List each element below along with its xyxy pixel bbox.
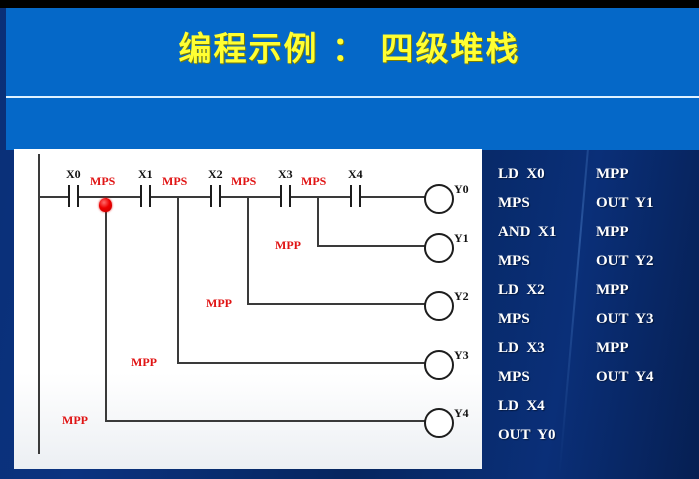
coil-label-y3: Y3 bbox=[454, 348, 469, 363]
instruction-line: MPP bbox=[596, 218, 691, 247]
coil-y1 bbox=[424, 233, 454, 263]
instruction-line: OUT Y4 bbox=[596, 363, 691, 392]
stack-label-mpp-1: MPP bbox=[275, 238, 301, 253]
coil-y3 bbox=[424, 350, 454, 380]
stack-label-mps-4: MPS bbox=[301, 174, 326, 189]
contact-x0 bbox=[68, 185, 79, 207]
coil-y0 bbox=[424, 184, 454, 214]
rung-wire-y3 bbox=[177, 362, 425, 364]
contact-label-x0: X0 bbox=[66, 167, 81, 182]
coil-label-y4: Y4 bbox=[454, 406, 469, 421]
rung-wire-y1 bbox=[317, 245, 425, 247]
stack-label-mps-3: MPS bbox=[231, 174, 256, 189]
instruction-line: MPS bbox=[498, 189, 593, 218]
contact-x3 bbox=[280, 185, 291, 207]
instruction-line: OUT Y2 bbox=[596, 247, 691, 276]
rung-wire-main bbox=[38, 196, 68, 198]
rung-wire-main bbox=[291, 196, 350, 198]
coil-y4 bbox=[424, 408, 454, 438]
branch-vertical-1 bbox=[105, 196, 107, 422]
instruction-line: MPP bbox=[596, 334, 691, 363]
stack-label-mps-2: MPS bbox=[162, 174, 187, 189]
instruction-line: LD X3 bbox=[498, 334, 593, 363]
stack-label-mpp-3: MPP bbox=[131, 355, 157, 370]
instruction-line: MPS bbox=[498, 363, 593, 392]
instruction-line: MPS bbox=[498, 305, 593, 334]
stack-label-mpp-4: MPP bbox=[62, 413, 88, 428]
header-divider bbox=[6, 96, 699, 98]
instruction-line: LD X0 bbox=[498, 160, 593, 189]
instruction-line: OUT Y3 bbox=[596, 305, 691, 334]
instruction-line: MPS bbox=[498, 247, 593, 276]
contact-x1 bbox=[140, 185, 151, 207]
instruction-line: OUT Y1 bbox=[596, 189, 691, 218]
instruction-line: OUT Y0 bbox=[498, 421, 593, 450]
instruction-line: AND X1 bbox=[498, 218, 593, 247]
contact-label-x4: X4 bbox=[348, 167, 363, 182]
rung-wire-main bbox=[361, 196, 425, 198]
contact-x4 bbox=[350, 185, 361, 207]
instruction-list-left-column: LD X0 MPS AND X1 MPS LD X2 MPS LD X3 MPS… bbox=[498, 160, 593, 450]
page-title: 编程示例 ： 四级堆栈 bbox=[0, 22, 699, 70]
coil-label-y2: Y2 bbox=[454, 289, 469, 304]
branch-vertical-2 bbox=[177, 196, 179, 363]
instruction-line: LD X4 bbox=[498, 392, 593, 421]
contact-x2 bbox=[210, 185, 221, 207]
contact-label-x3: X3 bbox=[278, 167, 293, 182]
rung-wire-y2 bbox=[247, 303, 425, 305]
rung-wire-y4 bbox=[105, 420, 425, 422]
instruction-line: LD X2 bbox=[498, 276, 593, 305]
contact-label-x2: X2 bbox=[208, 167, 223, 182]
top-black-bar bbox=[0, 0, 699, 8]
rung-wire-main bbox=[79, 196, 140, 198]
branch-vertical-4 bbox=[317, 196, 319, 246]
ladder-diagram-panel: X0 X1 X2 X3 X4 MPS MPS MPS MPS bbox=[14, 149, 482, 469]
contact-label-x1: X1 bbox=[138, 167, 153, 182]
coil-label-y0: Y0 bbox=[454, 182, 469, 197]
instruction-line: MPP bbox=[596, 160, 691, 189]
stack-label-mpp-2: MPP bbox=[206, 296, 232, 311]
instruction-line: MPP bbox=[596, 276, 691, 305]
coil-label-y1: Y1 bbox=[454, 231, 469, 246]
instruction-list: LD X0 MPS AND X1 MPS LD X2 MPS LD X3 MPS… bbox=[498, 160, 694, 450]
slide-root: 编程示例 ： 四级堆栈 « X0 X1 X2 X3 X4 bbox=[0, 0, 699, 479]
instruction-list-right-column: MPP OUT Y1 MPP OUT Y2 MPP OUT Y3 MPP OUT… bbox=[596, 160, 691, 392]
stack-label-mps-1: MPS bbox=[90, 174, 115, 189]
rung-wire-main bbox=[221, 196, 280, 198]
branch-vertical-3 bbox=[247, 196, 249, 305]
power-rail-left bbox=[38, 154, 40, 454]
coil-y2 bbox=[424, 291, 454, 321]
flow-marker-icon bbox=[99, 198, 112, 212]
rung-wire-main bbox=[151, 196, 210, 198]
